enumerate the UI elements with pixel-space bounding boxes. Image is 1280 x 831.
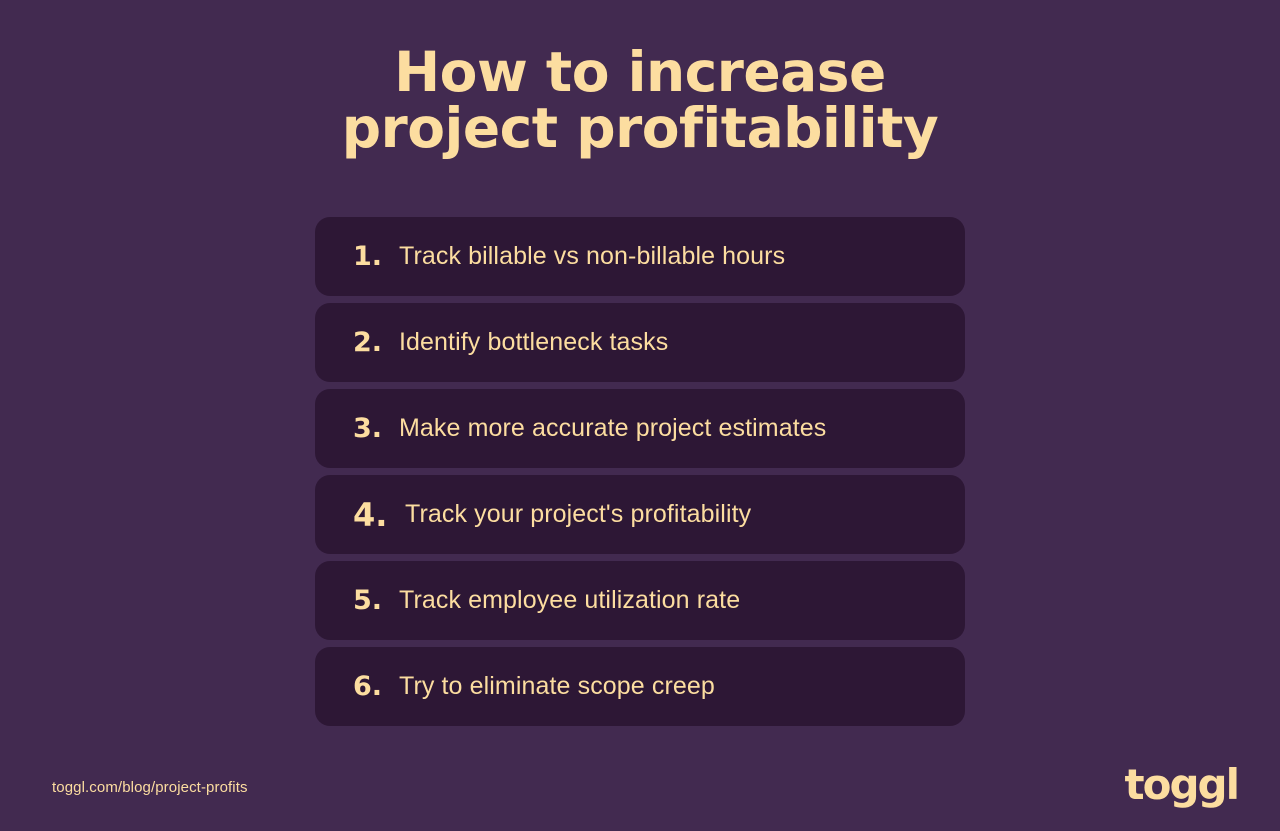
- list-item-label: Track billable vs non-billable hours: [399, 242, 785, 271]
- list-item-label: Identify bottleneck tasks: [399, 328, 668, 357]
- list-item: 2. Identify bottleneck tasks: [315, 303, 965, 382]
- list-item-label: Make more accurate project estimates: [399, 414, 826, 443]
- tips-list: 1. Track billable vs non-billable hours …: [315, 217, 965, 726]
- list-item-label: Track your project's profitability: [405, 500, 751, 529]
- list-item-number: 3.: [353, 413, 399, 444]
- source-url: toggl.com/blog/project-profits: [52, 779, 248, 796]
- list-item: 1. Track billable vs non-billable hours: [315, 217, 965, 296]
- list-item: 4. Track your project's profitability: [315, 475, 965, 554]
- list-item-label: Track employee utilization rate: [399, 586, 740, 615]
- title-line-1: How to increase: [0, 44, 1280, 100]
- list-item: 3. Make more accurate project estimates: [315, 389, 965, 468]
- list-item-number: 4.: [353, 496, 405, 534]
- list-item-number: 5.: [353, 585, 399, 616]
- title-line-2: project profitability: [0, 100, 1280, 156]
- page-title: How to increase project profitability: [0, 44, 1280, 156]
- list-item: 5. Track employee utilization rate: [315, 561, 965, 640]
- toggl-logo: toggl: [1125, 762, 1238, 808]
- list-item: 6. Try to eliminate scope creep: [315, 647, 965, 726]
- list-item-label: Try to eliminate scope creep: [399, 672, 715, 701]
- infographic-poster: How to increase project profitability 1.…: [0, 0, 1280, 831]
- list-item-number: 2.: [353, 327, 399, 358]
- list-item-number: 1.: [353, 241, 399, 272]
- list-item-number: 6.: [353, 671, 399, 702]
